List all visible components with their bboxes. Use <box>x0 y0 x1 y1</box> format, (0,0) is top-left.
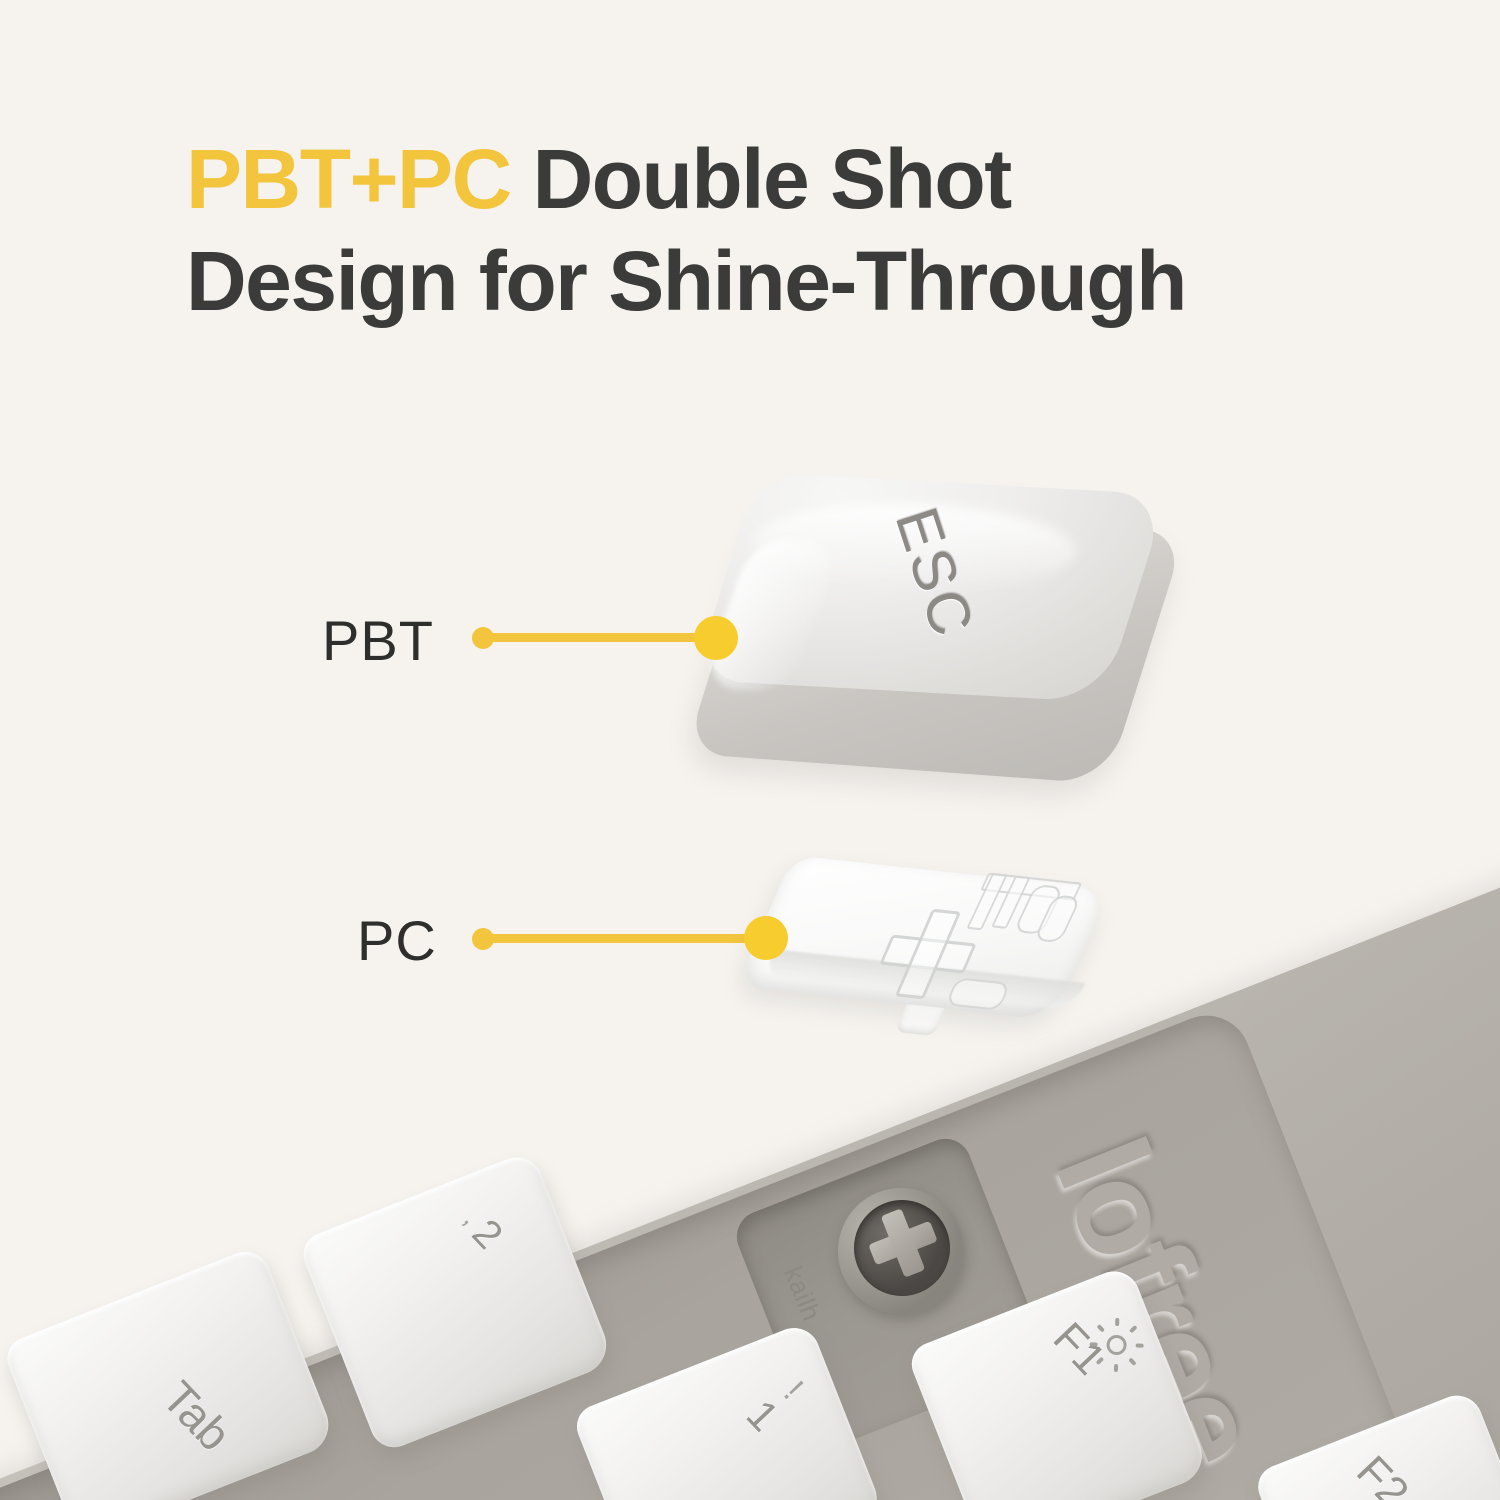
key-f2-label: F2 <box>1346 1447 1418 1500</box>
callout-dot-pc-end <box>744 916 788 960</box>
headline-accent: PBT+PC <box>186 132 511 226</box>
page-title: PBT+PC Double Shot Design for Shine-Thro… <box>186 128 1406 332</box>
callout-dot-pc-start <box>472 928 494 950</box>
callout-line-pc <box>486 934 768 943</box>
esc-keycap: ESC <box>695 470 1176 796</box>
callout-dot-pbt-start <box>472 627 494 649</box>
key-tab-label: Tab <box>152 1370 242 1461</box>
product-marketing-image: PBT+PC Double Shot Design for Shine-Thro… <box>0 0 1500 1500</box>
headline-line1-rest: Double Shot <box>511 132 1011 226</box>
callout-label-pbt: PBT <box>322 608 434 673</box>
key-1-sublabel: ! <box>776 1374 811 1408</box>
callout-label-pc: PC <box>357 908 437 973</box>
callout-dot-pbt-end <box>694 616 738 660</box>
callout-line-pbt <box>486 633 718 642</box>
headline-line2: Design for Shine-Through <box>186 234 1186 328</box>
